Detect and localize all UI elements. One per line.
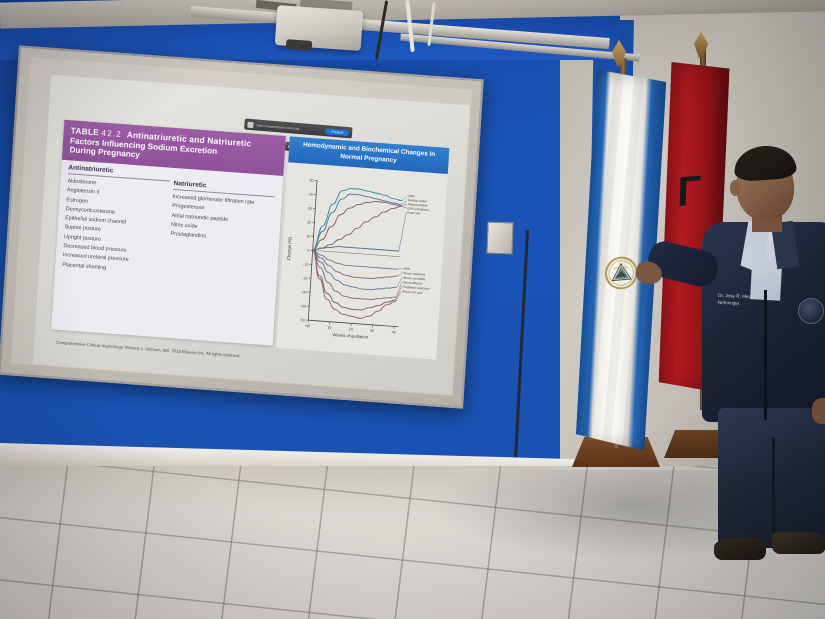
jacket-zipper [764,290,767,420]
whiteboard-surface: Web Presentation Controls Present TABLE … [11,57,472,396]
trouser-seam [772,438,775,548]
svg-text:NP: NP [305,324,311,328]
chart-title: Hemodynamic and Biochemical Changes in N… [288,136,449,174]
table-column-natriuretic: Natriuretic Increased glomerular filtrat… [168,172,276,285]
classroom-scene: Web Presentation Controls Present TABLE … [0,0,825,619]
svg-text:Change (%): Change (%) [286,236,292,260]
svg-text:-30: -30 [301,290,306,294]
svg-text:10: 10 [327,326,331,330]
svg-text:30: 30 [308,206,312,210]
svg-text:-10: -10 [303,262,308,266]
svg-text:-40: -40 [300,304,305,308]
svg-text:Weeks of gestation: Weeks of gestation [333,332,369,340]
presenter: Dr. Jose R. Medina Nefrologia [640,150,825,570]
projected-slide: Web Presentation Controls Present TABLE … [33,75,470,395]
present-button[interactable]: Present [325,128,349,136]
presenter-right-hand [812,398,825,424]
svg-text:40: 40 [309,192,313,196]
chart-plot-area: 50403020100-10-20-30-40-50Change (%)NP10… [276,170,447,359]
svg-text:20: 20 [349,327,353,331]
svg-text:20: 20 [307,220,311,224]
whiteboard-frame: Web Presentation Controls Present TABLE … [0,45,484,408]
projector-lens-icon [286,39,313,51]
presenter-ear [730,180,740,196]
slide-table-card: TABLE 42.2 Antinatriuretic and Natriuret… [51,120,286,346]
presenter-shoe-right [772,532,825,554]
svg-text:40: 40 [392,330,396,334]
slide-chart-card: Hemodynamic and Biochemical Changes in N… [276,136,449,359]
svg-text:10: 10 [306,234,310,238]
jacket-emblem-patch [798,298,824,324]
svg-text:Serum uric acid: Serum uric acid [402,289,423,294]
svg-text:50: 50 [309,179,313,183]
svg-text:-20: -20 [302,276,307,280]
pregnancy-changes-line-chart: 50403020100-10-20-30-40-50Change (%)NP10… [276,170,447,359]
table-number: 42.2 [101,128,122,139]
svg-text:0: 0 [307,249,309,253]
svg-text:30: 30 [370,329,374,333]
toolbar-title: Web Presentation Controls [256,123,299,131]
table-body: Antinatriuretic Aldosterone Angiotensin … [55,160,284,292]
table-column-antinatriuretic: Antinatriuretic Aldosterone Angiotensin … [62,164,170,277]
presenter-shoe-left [714,538,766,560]
svg-text:-50: -50 [299,318,304,322]
svg-text:Heart rate: Heart rate [407,211,420,216]
presenter-hair [733,144,797,182]
nicaragua-coat-of-arms-icon [603,255,639,292]
slides-icon [247,121,253,127]
jacket-name-embroidery: Dr. Jose R. Medina Nefrologia [718,293,782,309]
table-label: TABLE [70,125,99,137]
av-connection-box [486,222,513,255]
